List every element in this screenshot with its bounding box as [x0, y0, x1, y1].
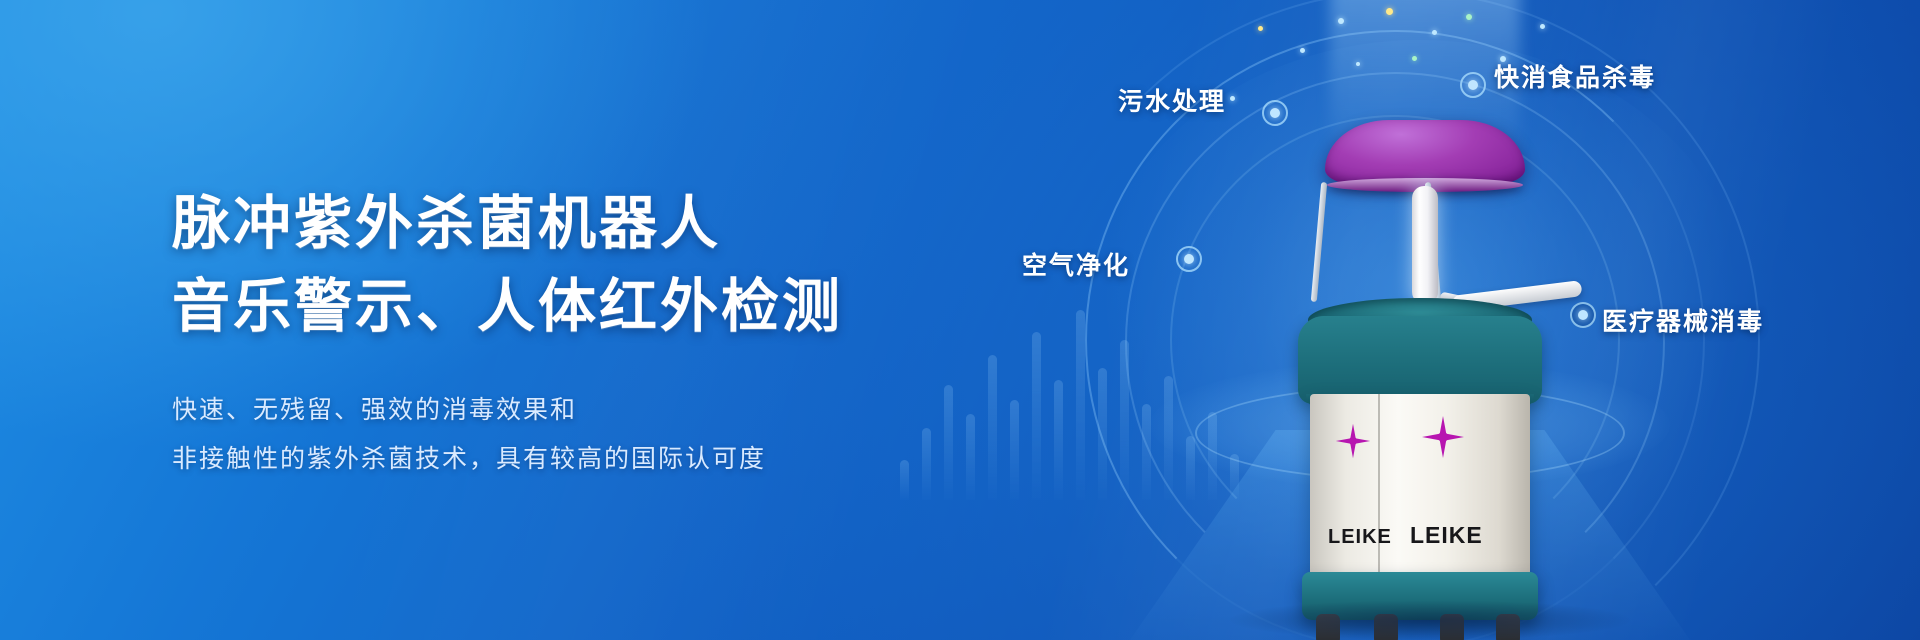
uv-reflector-dome: [1325, 120, 1525, 186]
promo-banner: 脉冲紫外杀菌机器人 音乐警示、人体红外检测 快速、无残留、强效的消毒效果和 非接…: [0, 0, 1920, 640]
feature-label-air-purify: 空气净化: [1022, 246, 1130, 282]
sparkle-dot: [1466, 14, 1472, 20]
sparkle-dot: [1386, 8, 1393, 15]
feature-label-food-sterilize: 快消食品杀毒: [1494, 58, 1656, 94]
brand-wordmark: LEIKE: [1328, 526, 1392, 549]
sparkle-dot: [1338, 18, 1344, 24]
brand-wordmark: LEIKE: [1410, 522, 1483, 549]
connector-node-icon: [1460, 72, 1486, 98]
connector-node-icon: [1176, 246, 1202, 272]
sparkle-dot: [1258, 26, 1263, 31]
description-line-2: 非接触性的紫外杀菌技术，具有较高的国际认可度: [172, 436, 932, 485]
product-image-uv-robot: LEIKE LEIKE: [1270, 120, 1580, 590]
top-housing: [1298, 316, 1542, 404]
page-title: 脉冲紫外杀菌机器人: [172, 186, 932, 261]
sparkle-dot: [1300, 48, 1305, 53]
sparkle-dot: [1356, 62, 1360, 66]
sparkle-dot: [1412, 56, 1417, 61]
support-rod: [1311, 182, 1327, 302]
feature-label-wastewater: 污水处理: [1118, 82, 1226, 118]
headline-block: 脉冲紫外杀菌机器人 音乐警示、人体红外检测 快速、无残留、强效的消毒效果和 非接…: [172, 186, 932, 484]
cabinet-corner-edge: [1378, 394, 1380, 580]
page-subtitle: 音乐警示、人体红外检测: [172, 269, 932, 344]
uv-lamp-tube: [1412, 186, 1438, 304]
sparkle-dot: [1432, 30, 1437, 35]
description-line-1: 快速、无残留、强效的消毒效果和: [172, 387, 932, 436]
sparkle-dot: [1230, 96, 1235, 101]
brand-star-icon: [1336, 424, 1370, 458]
sparkle-dot: [1540, 24, 1545, 29]
sound-wave-graphic: [900, 300, 1239, 500]
feature-label-medical-device: 医疗器械消毒: [1602, 302, 1764, 338]
description-block: 快速、无残留、强效的消毒效果和 非接触性的紫外杀菌技术，具有较高的国际认可度: [172, 387, 932, 485]
product-ground-shadow: [1230, 600, 1630, 640]
cabinet-body: [1310, 394, 1530, 580]
brand-star-icon: [1422, 416, 1464, 458]
